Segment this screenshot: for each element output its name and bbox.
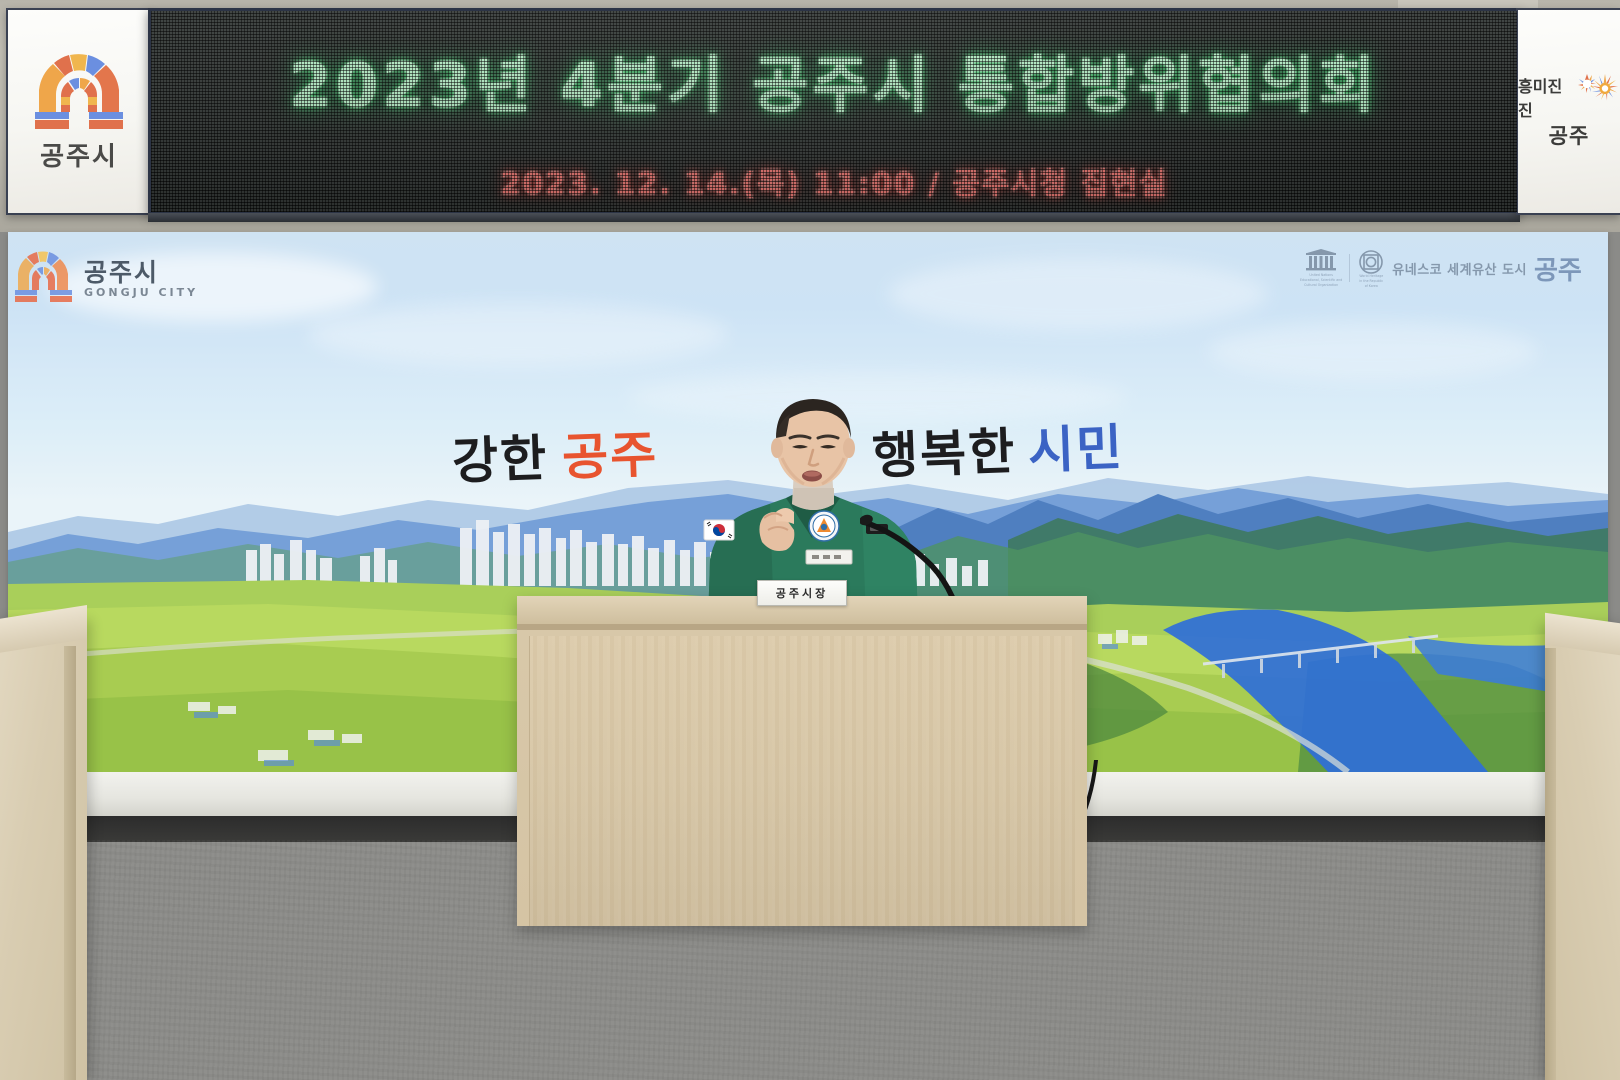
unesco-caption: United NationsEducational, Scientific an…	[1300, 273, 1342, 287]
slogan-left-part1: 강한	[451, 429, 549, 490]
plate-right-line2: 공주	[1549, 120, 1590, 150]
nameplate-text: 공주시장	[776, 585, 828, 601]
right-desk-edge	[1545, 648, 1556, 1080]
plate-right-line1: 흥미진진	[1518, 73, 1572, 121]
unesco-temple-icon	[1304, 249, 1338, 273]
korean-flag-patch	[704, 520, 734, 540]
gongju-city-logo-plate: 공주시	[6, 8, 152, 215]
led-panel: 2023년 4분기 공주시 통합방위협의회 2023. 12. 14.(목) 1…	[151, 11, 1517, 212]
name-tag	[806, 550, 852, 564]
led-subline: 2023. 12. 14.(목) 11:00 / 공주시청 집현실	[151, 159, 1517, 203]
desk-nameplate: 공주시장	[757, 580, 847, 606]
backdrop-city-logo-english: GONGJU CITY	[84, 287, 198, 298]
mark-divider	[1349, 254, 1350, 282]
slogan-left-part2: 공주	[561, 425, 659, 486]
unesco-gongju-wordmark: 공주	[1534, 250, 1582, 287]
desk-lip	[517, 624, 1087, 630]
backdrop-city-logo: 공주시 GONGJU CITY	[12, 250, 198, 308]
main-podium-desk: 공주시장	[517, 596, 1087, 926]
civil-defense-emblem-badge	[809, 511, 839, 541]
unesco-label: 유네스코 세계유산 도시	[1392, 259, 1527, 278]
led-display-sign: 2023년 4분기 공주시 통합방위협의회 2023. 12. 14.(목) 1…	[148, 8, 1520, 215]
backdrop-city-arch-icon	[12, 250, 74, 308]
right-desk-top	[1545, 613, 1620, 656]
left-desk-edge	[64, 646, 76, 1080]
led-headline: 2023년 4분기 공주시 통합방위협의회	[151, 35, 1517, 124]
right-foreground-desk	[1545, 624, 1620, 1080]
backdrop-city-logo-korean: 공주시	[84, 260, 198, 285]
briefing-room-scene: 공주시 2023년 4분기 공주시 통합방위협의회 2023. 12. 14.(…	[0, 0, 1620, 1080]
left-foreground-desk	[0, 620, 87, 1080]
sign-bottom-rail	[148, 213, 1520, 222]
gongju-city-arch-emblem-icon	[27, 50, 131, 134]
exciting-gongju-logo-plate: 흥미진진	[1516, 8, 1620, 215]
exciting-gongju-sun-emblem-icon	[1574, 73, 1620, 121]
backdrop-slogan-left: 강한공주	[451, 414, 659, 493]
plate-left-label: 공주시	[40, 136, 118, 173]
unesco-world-heritage-mark: United NationsEducational, Scientific an…	[1300, 248, 1582, 288]
desk-front-panel	[529, 636, 1075, 926]
world-heritage-caption: World Heritagein the Republicof Korea	[1359, 274, 1383, 288]
world-heritage-emblem-icon	[1357, 248, 1385, 274]
